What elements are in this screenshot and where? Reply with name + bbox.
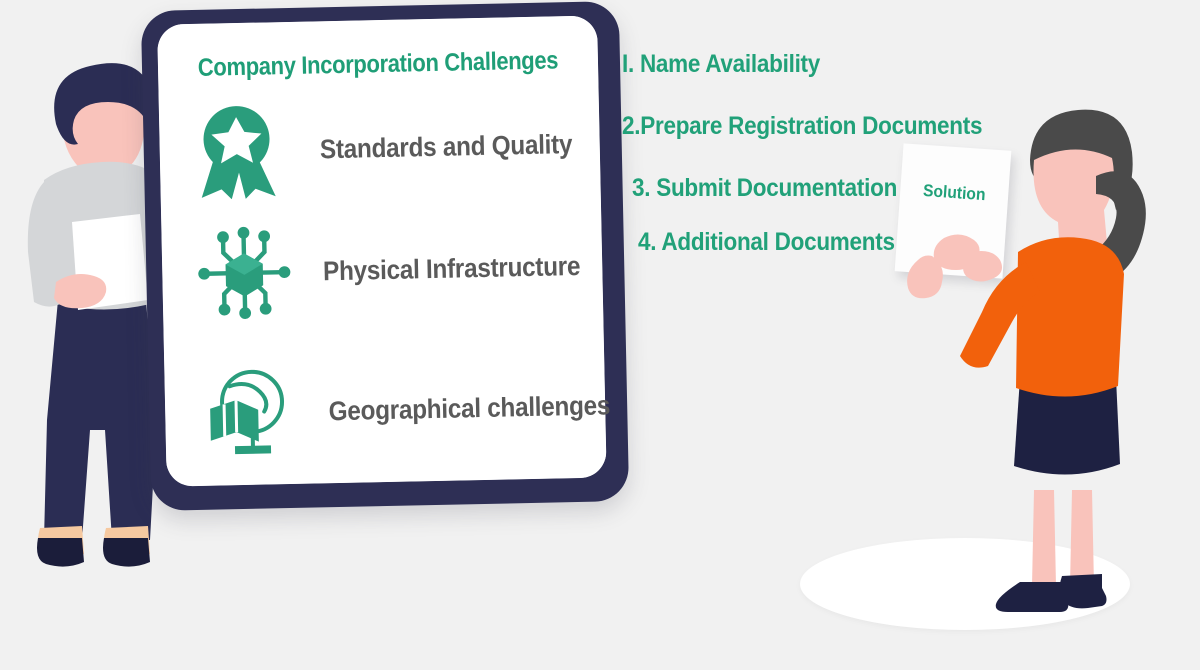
woman-top	[1016, 237, 1124, 396]
woman-finger-group	[963, 251, 1002, 282]
woman-shoe-left	[996, 582, 1069, 612]
woman-shoe-right	[1059, 574, 1106, 608]
woman-leg-left	[1032, 490, 1056, 586]
woman-hand-lower	[907, 256, 943, 299]
infographic-canvas: Company Incorporation Challenges Standar…	[0, 0, 1200, 670]
woman-leg-right	[1070, 490, 1094, 586]
woman-holding-solution-paper	[0, 0, 1200, 670]
